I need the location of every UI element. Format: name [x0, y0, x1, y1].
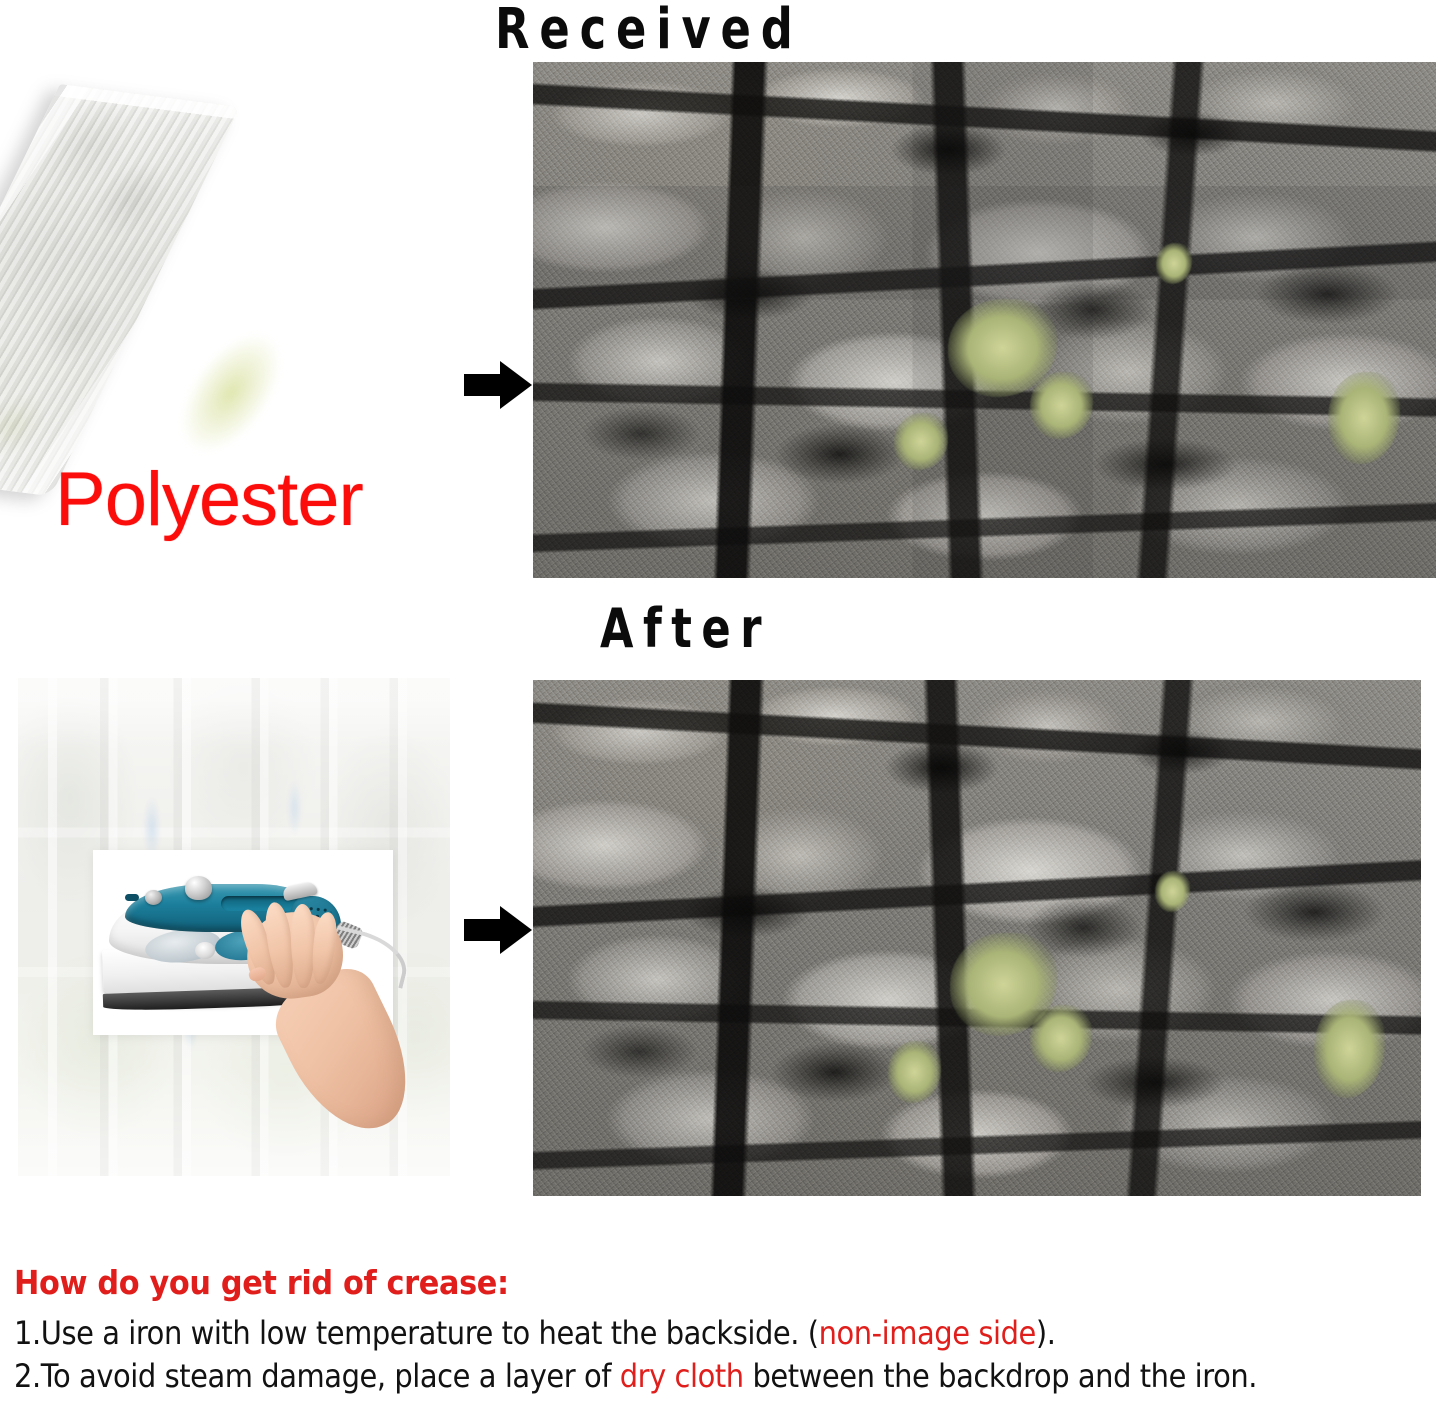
instruction-1-highlight: non-image side [819, 1314, 1036, 1352]
instruction-item-1: 1.Use a iron with low temperature to hea… [14, 1314, 1292, 1353]
iron-spray-button [195, 942, 215, 959]
after-title: After [600, 602, 771, 656]
instructions-block: How do you get rid of crease: 1.Use a ir… [14, 1264, 1426, 1396]
instructions-heading: How do you get rid of crease: [14, 1264, 1313, 1302]
arrow-shaft [464, 919, 504, 941]
ironing-demo-card [93, 850, 393, 1035]
arrow-head [500, 906, 532, 954]
after-backdrop-photo [533, 680, 1421, 1196]
folded-polyester-cloth-image [18, 78, 418, 476]
moss-cluster-group [533, 62, 1436, 578]
arrow-right-icon [464, 361, 534, 409]
arrow-right-icon-after [464, 906, 534, 954]
polyester-material-label: Polyester [55, 462, 363, 538]
instruction-item-2: 2.To avoid steam damage, place a layer o… [14, 1357, 1292, 1396]
hand-icon [241, 912, 411, 1142]
instruction-2-highlight: dry cloth [620, 1357, 744, 1395]
arrow-shaft [464, 374, 504, 396]
arrow-head [500, 361, 532, 409]
iron-steam-knob [145, 890, 162, 905]
received-title: Received [495, 2, 803, 58]
instruction-1-number: 1. [14, 1314, 41, 1352]
instruction-2-text-before: To avoid steam damage, place a layer of [41, 1357, 620, 1395]
cloth-green-hint [161, 328, 301, 458]
iron-vent [125, 894, 139, 901]
iron-temperature-dial [185, 876, 212, 900]
moss-cluster-group [533, 680, 1421, 1196]
instruction-2-text-after: between the backdrop and the iron. [744, 1357, 1257, 1395]
received-backdrop-photo [533, 62, 1436, 578]
instruction-2-number: 2. [14, 1357, 41, 1395]
instruction-1-text-before: Use a iron with low temperature to heat … [41, 1314, 819, 1352]
instruction-1-text-after: ). [1036, 1314, 1056, 1352]
